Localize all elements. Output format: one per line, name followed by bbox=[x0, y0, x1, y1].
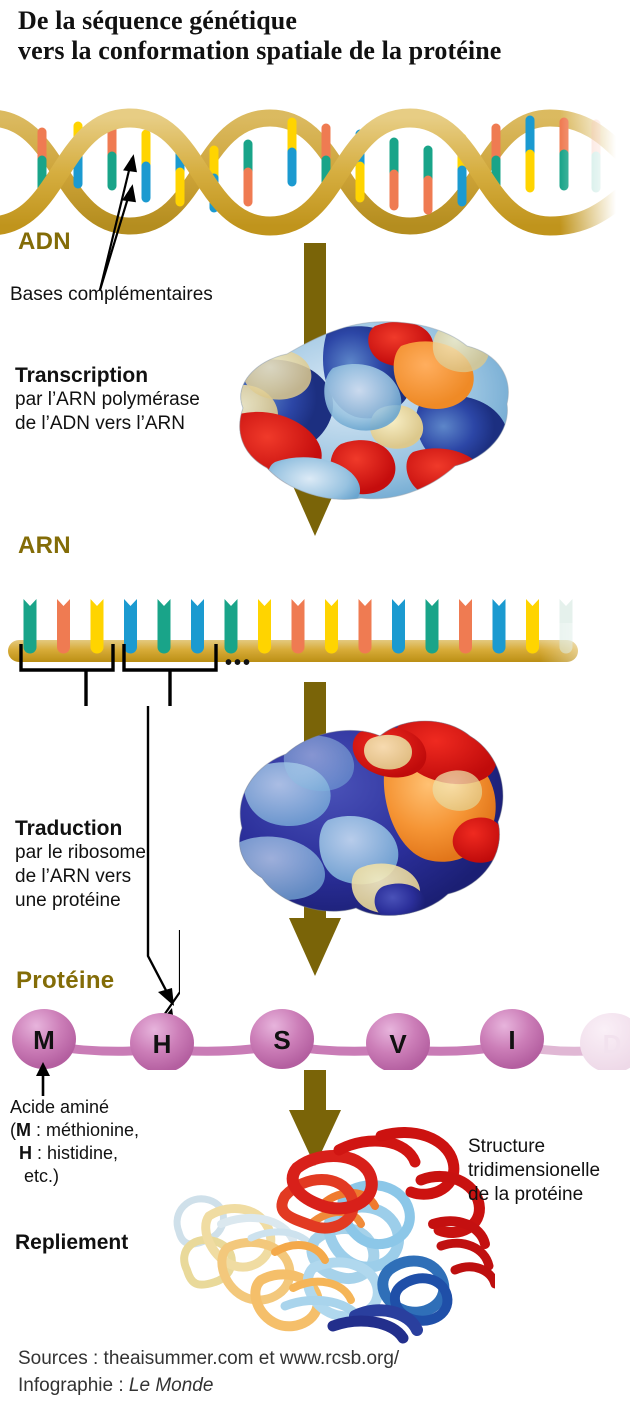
structure-label: Structure tridimensionelle de la protéin… bbox=[468, 1135, 628, 1207]
rna-polymerase-surface-illustration bbox=[215, 312, 515, 512]
repliement-heading: Repliement bbox=[15, 1230, 128, 1255]
dna-note-label: Bases complémentaires bbox=[10, 283, 213, 307]
rna-label: ARN bbox=[18, 532, 71, 560]
amino-acid-code: S bbox=[273, 1025, 290, 1055]
amino-acid-code: M bbox=[33, 1025, 55, 1055]
legend-code-m: M bbox=[16, 1120, 31, 1140]
footer-credit-label: Infographie : bbox=[18, 1375, 129, 1396]
rna-base bbox=[459, 599, 472, 654]
transcription-block: Transcription par l’ARN polymérase de l’… bbox=[15, 363, 245, 436]
amino-legend-line-1: Acide aminé bbox=[10, 1096, 240, 1119]
dna-note-leader-lines bbox=[0, 140, 220, 305]
legend-text-h: : histidine, bbox=[32, 1143, 118, 1163]
rna-base bbox=[359, 599, 372, 654]
footer-credit: Infographie : Le Monde bbox=[18, 1372, 618, 1399]
amino-acid-node: M bbox=[12, 1009, 76, 1069]
codon-to-amino-leader-line bbox=[130, 706, 190, 1015]
rna-ellipsis: ••• bbox=[225, 652, 252, 675]
amino-acid-code: D bbox=[603, 1029, 622, 1059]
rna-base bbox=[526, 599, 539, 654]
amino-acid-node: D bbox=[580, 1013, 630, 1070]
structure-label-line-3: de la protéine bbox=[468, 1183, 628, 1207]
amino-acid-chain: MHSVID bbox=[0, 995, 630, 1070]
footer-credit-value: Le Monde bbox=[129, 1375, 214, 1396]
transcription-line-1: par l’ARN polymérase bbox=[15, 388, 245, 412]
amino-acid-node: H bbox=[130, 1013, 194, 1070]
title-line-1: De la séquence génétique bbox=[18, 6, 618, 36]
amino-acid-code: V bbox=[389, 1029, 407, 1059]
codon-brackets bbox=[0, 640, 300, 710]
amino-acid-code: H bbox=[153, 1029, 172, 1059]
rna-base bbox=[493, 599, 506, 654]
structure-label-line-2: tridimensionelle bbox=[468, 1159, 628, 1183]
title-line-2: vers la conformation spatiale de la prot… bbox=[18, 36, 618, 66]
amino-acid-node: S bbox=[250, 1009, 314, 1069]
transcription-line-2: de l’ADN vers l’ARN bbox=[15, 412, 245, 436]
amino-acid-node: V bbox=[366, 1013, 430, 1070]
ribosome-surface-illustration bbox=[232, 710, 512, 925]
legend-text-m: : méthionine, bbox=[31, 1120, 139, 1140]
transcription-heading: Transcription bbox=[15, 363, 245, 388]
structure-label-line-1: Structure bbox=[468, 1135, 628, 1159]
rna-base bbox=[392, 599, 405, 654]
amino-acid-node: I bbox=[480, 1009, 544, 1069]
amino-acid-code: I bbox=[508, 1025, 515, 1055]
footer-sources: Sources : theaisummer.com et www.rcsb.or… bbox=[18, 1345, 618, 1372]
rna-base bbox=[325, 599, 338, 654]
protein-ribbon-structure-illustration bbox=[165, 1120, 495, 1350]
page-title: De la séquence génétique vers la conform… bbox=[18, 6, 618, 66]
footer: Sources : theaisummer.com et www.rcsb.or… bbox=[18, 1345, 618, 1399]
rna-base bbox=[426, 599, 439, 654]
legend-code-h: H bbox=[19, 1143, 32, 1163]
